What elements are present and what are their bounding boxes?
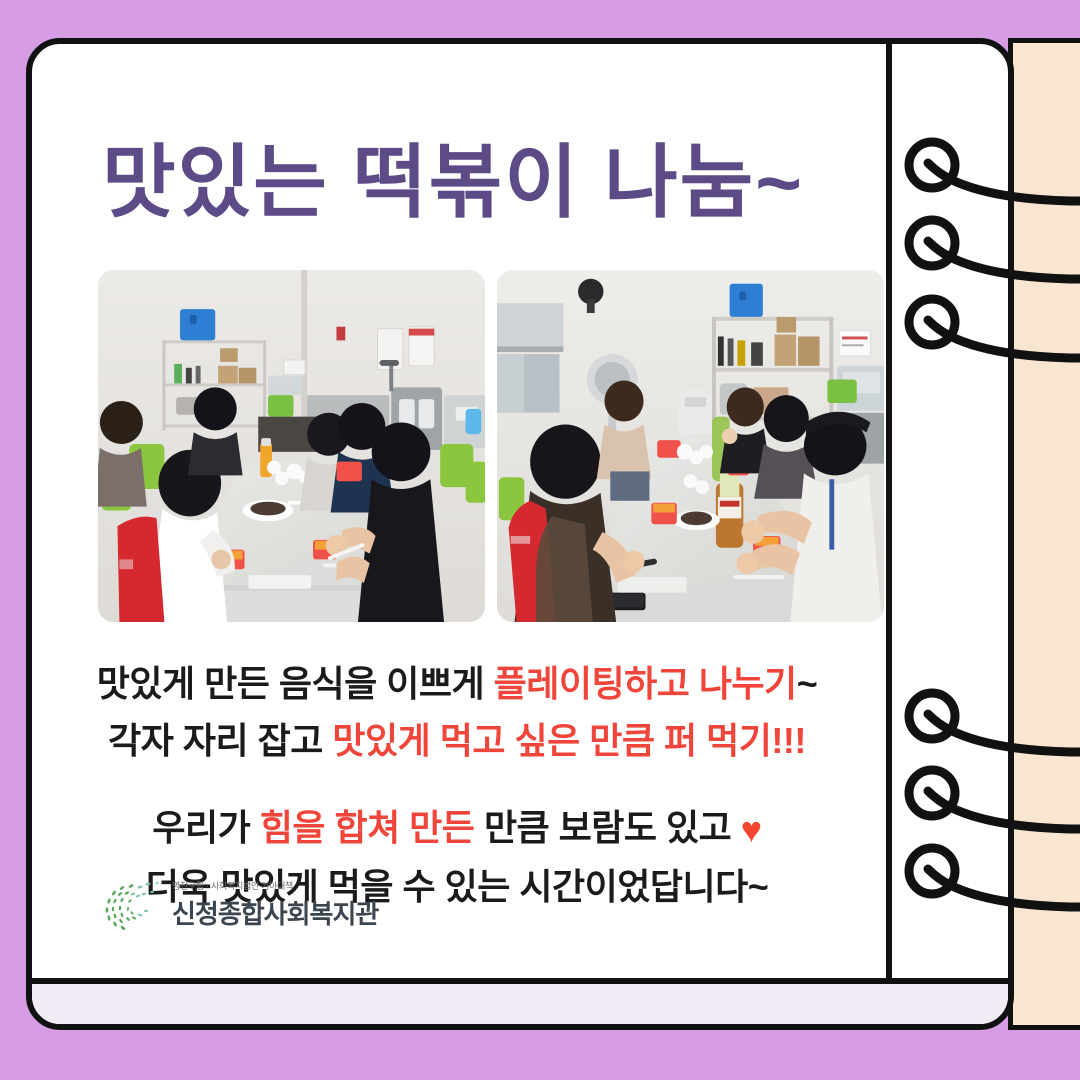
- poster-canvas: 맛있는 떡볶이 나눔~: [0, 0, 1080, 1080]
- copy-seg-highlight: 맛있게 먹고 싶은 만큼 퍼 먹기!!!: [332, 720, 805, 761]
- heart-icon: ♥: [741, 809, 762, 850]
- photo-left: [98, 270, 485, 622]
- card-footer-strip: [32, 978, 1008, 1024]
- copy-seg-highlight: 힘을 합쳐 만든: [260, 807, 475, 848]
- copy-seg-plain: ~: [797, 663, 818, 704]
- copy-seg-plain: 맛있게 만든 음식을 이쁘게: [97, 663, 494, 704]
- copy-seg-plain: 만큼 보람도 있고: [474, 807, 740, 848]
- organization-logo: 영천구립 · 사회복지법인 기아대책 신정종합사회복지관: [100, 874, 378, 936]
- notebook-side-panel: [1008, 38, 1080, 1030]
- copy-seg-plain: 각자 자리 잡고: [108, 720, 332, 761]
- photo-gallery: [98, 270, 884, 622]
- copy-line-3: 우리가 힘을 합쳐 만든 만큼 보람도 있고 ♥: [66, 800, 848, 859]
- copy-paragraph-gap: [66, 770, 848, 800]
- photo-left-image: [98, 270, 485, 622]
- logo-mark-icon: [100, 874, 162, 936]
- copy-line-1: 맛있게 만든 음식을 이쁘게 플레이팅하고 나누기~: [66, 656, 848, 713]
- copy-line-2: 각자 자리 잡고 맛있게 먹고 싶은 만큼 퍼 먹기!!!: [66, 713, 848, 770]
- photo-right: [497, 270, 884, 622]
- notebook-page-card: 맛있는 떡볶이 나눔~: [26, 38, 1014, 1030]
- copy-seg-plain: 우리가: [152, 807, 259, 848]
- photo-right-image: [497, 270, 884, 622]
- copy-seg-highlight: 플레이팅하고 나누기: [494, 663, 797, 704]
- logo-subtitle: 영천구립 · 사회복지법인 기아대책: [172, 879, 378, 892]
- page-title: 맛있는 떡볶이 나눔~: [32, 118, 874, 234]
- logo-text-block: 영천구립 · 사회복지법인 기아대책 신정종합사회복지관: [172, 879, 378, 931]
- logo-organization-name: 신정종합사회복지관: [172, 894, 378, 931]
- binding-margin-rule: [886, 44, 892, 990]
